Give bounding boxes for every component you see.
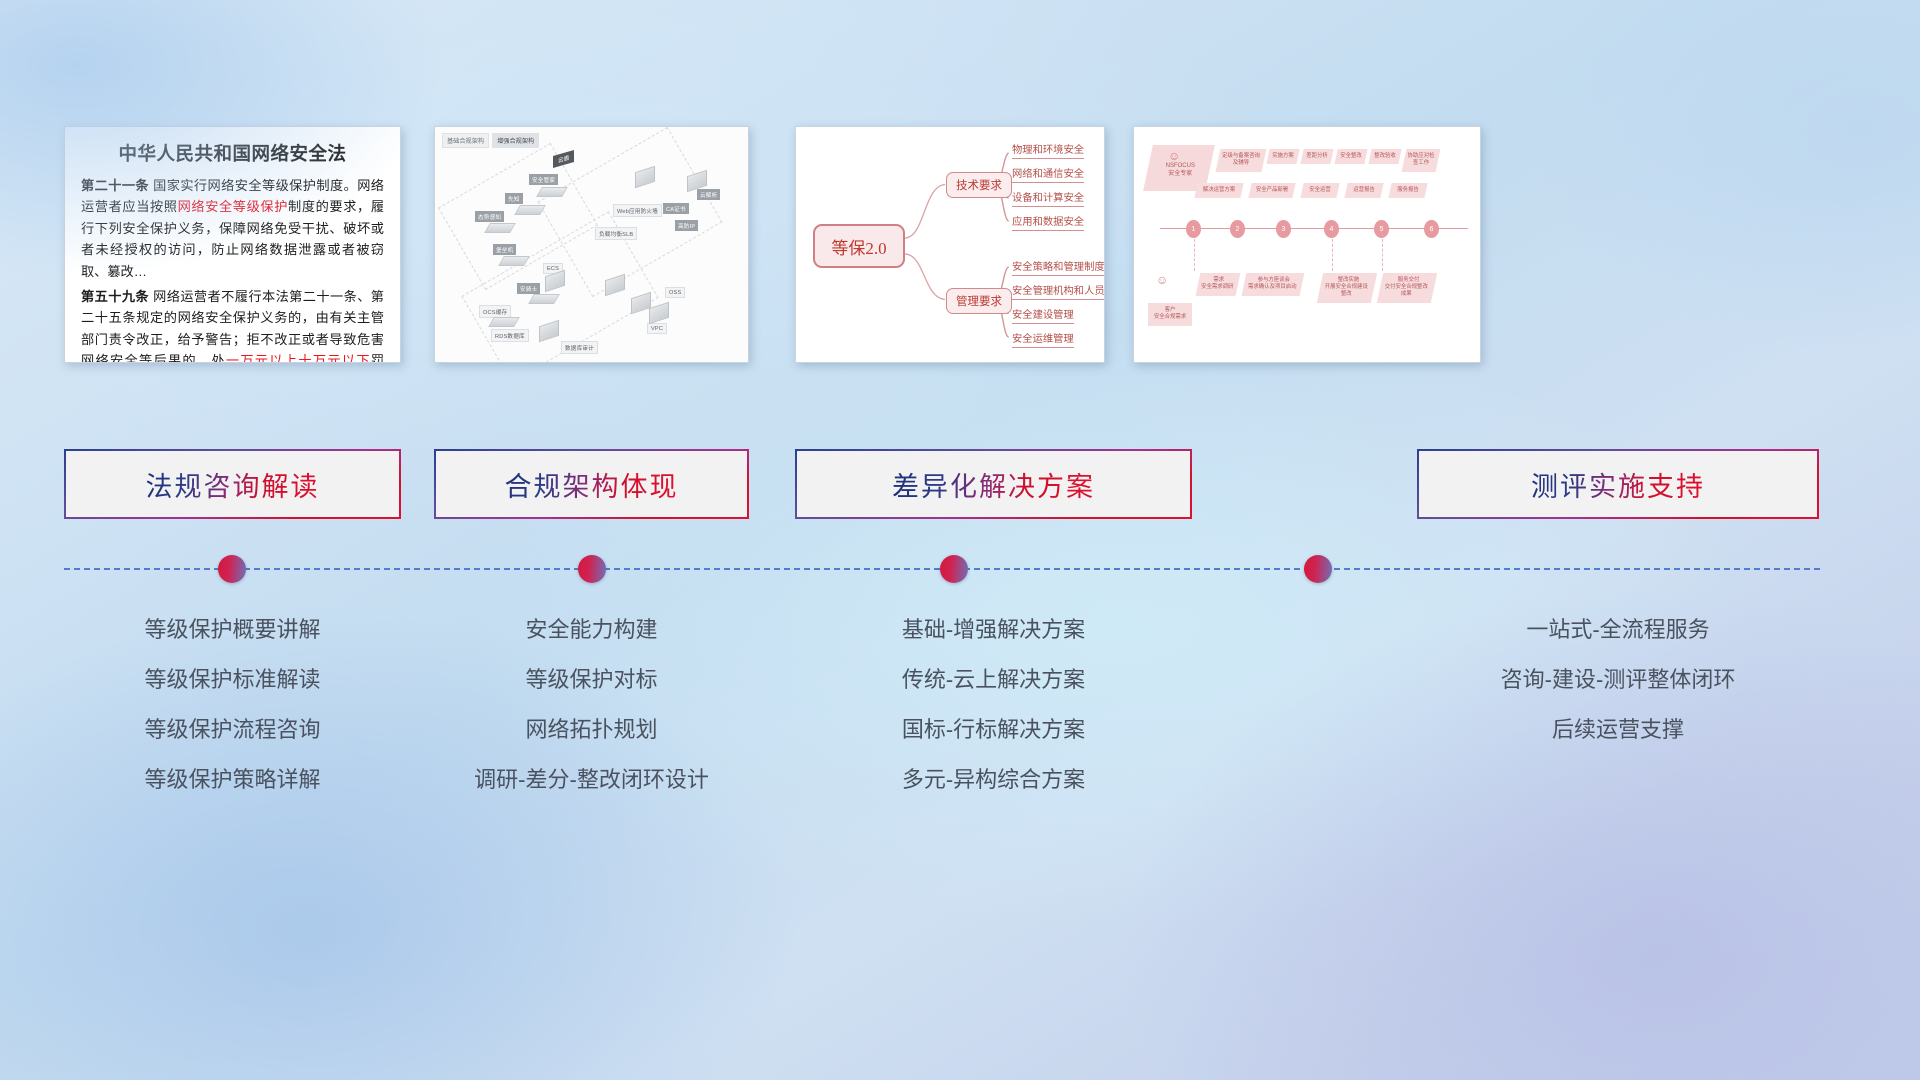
node-ca-certificate: CA证书: [663, 203, 689, 214]
node-waf: Web应用防火墙: [613, 204, 662, 217]
service-timeline-reference-card[interactable]: NSFOCUS 安全专家 ☺ 定级与备案咨询及辅导 实施方案 差距分析 安全整改…: [1133, 126, 1481, 363]
bottom-chip-rectification: 整改实施开展安全合规建设整改: [1317, 273, 1377, 303]
article-59-label: 第五十九条: [81, 289, 149, 304]
headline-box-compliance-architecture[interactable]: 合规架构体现: [434, 449, 749, 519]
list-item: 国标-行标解决方案: [795, 705, 1192, 755]
headline-label-4: 测评实施支持: [1531, 465, 1705, 504]
list-item: 传统-云上解决方案: [795, 655, 1192, 705]
headline-box-differentiated-solution[interactable]: 差异化解决方案: [795, 449, 1192, 519]
timeline-axis: [1160, 228, 1468, 229]
architecture-tabs[interactable]: 基础合规架构 增强合规架构: [442, 133, 539, 148]
node-vpc: VPC: [647, 323, 667, 334]
nsfocus-brand-sub: 安全专家: [1168, 171, 1192, 177]
architecture-reference-card[interactable]: 基础合规架构 增强合规架构 云盾 安全管家 先知 态势感知 堡垒机 ECS 安骑…: [434, 126, 749, 363]
header-chip-4: 安全整改: [1334, 149, 1367, 164]
law-card-body: 中华人民共和国网络安全法 第二十一条 国家实行网络安全等级保护制度。网络运营者应…: [65, 127, 400, 363]
node-rds-database: RDS数据库: [491, 329, 529, 342]
mindmap-branch-management: 管理要求: [946, 288, 1012, 314]
article-59-highlight-a: 一万元以上十万元以下: [226, 353, 371, 363]
headline-label-3: 差异化解决方案: [892, 465, 1095, 504]
list-item: 等级保护流程咨询: [64, 705, 401, 755]
headline-box-assessment-support[interactable]: 测评实施支持: [1417, 449, 1819, 519]
list-item: 安全能力构建: [434, 605, 749, 655]
bottom-chip-requirement: 需求安全需求调研: [1196, 273, 1241, 296]
headline-label-1: 法规咨询解读: [146, 465, 320, 504]
step-chip-2: 安全产品部署: [1248, 183, 1295, 198]
service-timeline-diagram: NSFOCUS 安全专家 ☺ 定级与备案咨询及辅导 实施方案 差距分析 安全整改…: [1134, 127, 1480, 362]
list-item: 等级保护对标: [434, 655, 749, 705]
node-dns-resolution: 云解析: [697, 189, 720, 200]
list-item: 后续运营支撑: [1417, 705, 1819, 755]
list-item: 调研-差分-整改闭环设计: [434, 755, 749, 805]
timeline-dot-2[interactable]: [578, 555, 606, 583]
nsfocus-brand: NSFOCUS: [1166, 163, 1195, 169]
mindmap-leaf-device-compute: 设备和计算安全: [1012, 189, 1084, 207]
step-chip-4: 运营报告: [1344, 183, 1383, 198]
mindmap-leaf-network-comm: 网络和通信安全: [1012, 165, 1084, 183]
node-database-audit: 数据库审计: [561, 341, 598, 354]
node-bastion-host: 堡垒机: [493, 244, 516, 255]
node-security-steward: 安全管家: [529, 174, 558, 185]
bottom-chip-customer: 客户安全合规需求: [1148, 303, 1192, 326]
law-article-21: 第二十一条 国家实行网络安全等级保护制度。网络运营者应当按照网络安全等级保护制度…: [81, 175, 384, 282]
timeline-drop-2: [1332, 239, 1333, 271]
list-item: 一站式-全流程服务: [1417, 605, 1819, 655]
headline-label-2: 合规架构体现: [505, 465, 679, 504]
timeline-dot-4[interactable]: [1304, 555, 1332, 583]
architecture-diagram: 基础合规架构 增强合规架构 云盾 安全管家 先知 态势感知 堡垒机 ECS 安骑…: [435, 127, 748, 362]
detail-list-differentiated-solution: 基础-增强解决方案 传统-云上解决方案 国标-行标解决方案 多元-异构综合方案: [795, 605, 1192, 805]
node-anqishi: 安骑士: [517, 283, 540, 294]
mindmap-leaf-construction-mgmt: 安全建设管理: [1012, 306, 1074, 324]
timeline-step-3: 3: [1276, 220, 1291, 238]
mindmap-leaf-ops-mgmt: 安全运维管理: [1012, 330, 1074, 348]
mindmap-leaf-policy-system: 安全策略和管理制度: [1012, 258, 1105, 276]
header-chip-5: 整改验收: [1368, 149, 1401, 164]
headline-box-regulation-consulting[interactable]: 法规咨询解读: [64, 449, 401, 519]
header-chip-6: 协助应对检查工作: [1402, 149, 1441, 172]
list-item: 等级保护策略详解: [64, 755, 401, 805]
step-chip-5: 服务报告: [1388, 183, 1427, 198]
list-item: 基础-增强解决方案: [795, 605, 1192, 655]
list-item: 等级保护概要讲解: [64, 605, 401, 655]
article-21-highlight: 网络安全等级保护: [178, 199, 288, 214]
timeline-drop-3: [1382, 239, 1383, 271]
node-anti-ddos-ip: 高防IP: [675, 220, 698, 231]
list-item: 咨询-建设-测评整体闭环: [1417, 655, 1819, 705]
node-situational-awareness: 态势感知: [475, 211, 504, 222]
customer-person-icon: ☺: [1156, 273, 1168, 287]
timeline-step-5: 5: [1374, 220, 1389, 238]
step-chip-1: 解决运营方案: [1194, 183, 1243, 198]
bottom-chip-delivery: 服务交付交付安全合规整改成果: [1377, 273, 1437, 303]
header-chip-1: 定级与备案咨询及辅导: [1216, 149, 1267, 172]
timeline-drop-1: [1194, 239, 1195, 271]
list-item: 网络拓扑规划: [434, 705, 749, 755]
header-chip-2: 实施方案: [1266, 149, 1299, 164]
detail-list-compliance-architecture: 安全能力构建 等级保护对标 网络拓扑规划 调研-差分-整改闭环设计: [434, 605, 749, 805]
detail-list-assessment-support: 一站式-全流程服务 咨询-建设-测评整体闭环 后续运营支撑: [1417, 605, 1819, 755]
node-xianzhi: 先知: [505, 193, 523, 204]
mindmap-branch-technical: 技术要求: [946, 172, 1012, 198]
mindmap-diagram: 等保2.0 技术要求 物理和环境安全 网络和通信安全 设备和计算安全 应用和数据…: [796, 127, 1104, 362]
timeline-step-2: 2: [1230, 220, 1245, 238]
timeline-step-4: 4: [1324, 220, 1339, 238]
expert-person-icon: ☺: [1168, 149, 1180, 163]
node-slb: 负载均衡SLB: [595, 227, 637, 240]
timeline-dot-1[interactable]: [218, 555, 246, 583]
step-chip-3: 安全运营: [1300, 183, 1339, 198]
list-item: 等级保护标准解读: [64, 655, 401, 705]
timeline-step-1: 1: [1186, 220, 1201, 238]
article-21-label: 第二十一条: [81, 178, 149, 193]
mindmap-leaf-physical-env: 物理和环境安全: [1012, 141, 1084, 159]
bottom-chip-kickoff: 参与方座谈会需求确认及项目启动: [1242, 273, 1305, 296]
law-card-title: 中华人民共和国网络安全法: [81, 140, 384, 166]
node-oss: OSS: [665, 287, 685, 298]
mindmap-root-node: 等保2.0: [813, 224, 905, 268]
detail-list-regulation-consulting: 等级保护概要讲解 等级保护标准解读 等级保护流程咨询 等级保护策略详解: [64, 605, 401, 805]
mindmap-leaf-org-personnel: 安全管理机构和人员: [1012, 282, 1105, 300]
list-item: 多元-异构综合方案: [795, 755, 1192, 805]
reference-cards-row: 中华人民共和国网络安全法 第二十一条 国家实行网络安全等级保护制度。网络运营者应…: [0, 126, 1920, 366]
timeline-dot-3[interactable]: [940, 555, 968, 583]
law-article-59: 第五十九条 网络运营者不履行本法第二十一条、第二十五条规定的网络安全保护义务的，…: [81, 286, 384, 363]
header-chip-3: 差距分析: [1300, 149, 1333, 164]
tab-basic-compliance[interactable]: 基础合规架构: [442, 133, 489, 148]
headline-boxes-row: 法规咨询解读 合规架构体现 差异化解决方案 测评实施支持: [0, 449, 1920, 519]
law-reference-card[interactable]: 中华人民共和国网络安全法 第二十一条 国家实行网络安全等级保护制度。网络运营者应…: [64, 126, 401, 363]
mindmap-reference-card[interactable]: 等保2.0 技术要求 物理和环境安全 网络和通信安全 设备和计算安全 应用和数据…: [795, 126, 1105, 363]
tab-enhanced-compliance[interactable]: 增强合规架构: [492, 133, 539, 148]
timeline-step-6: 6: [1424, 220, 1439, 238]
mindmap-leaf-app-data: 应用和数据安全: [1012, 213, 1084, 231]
